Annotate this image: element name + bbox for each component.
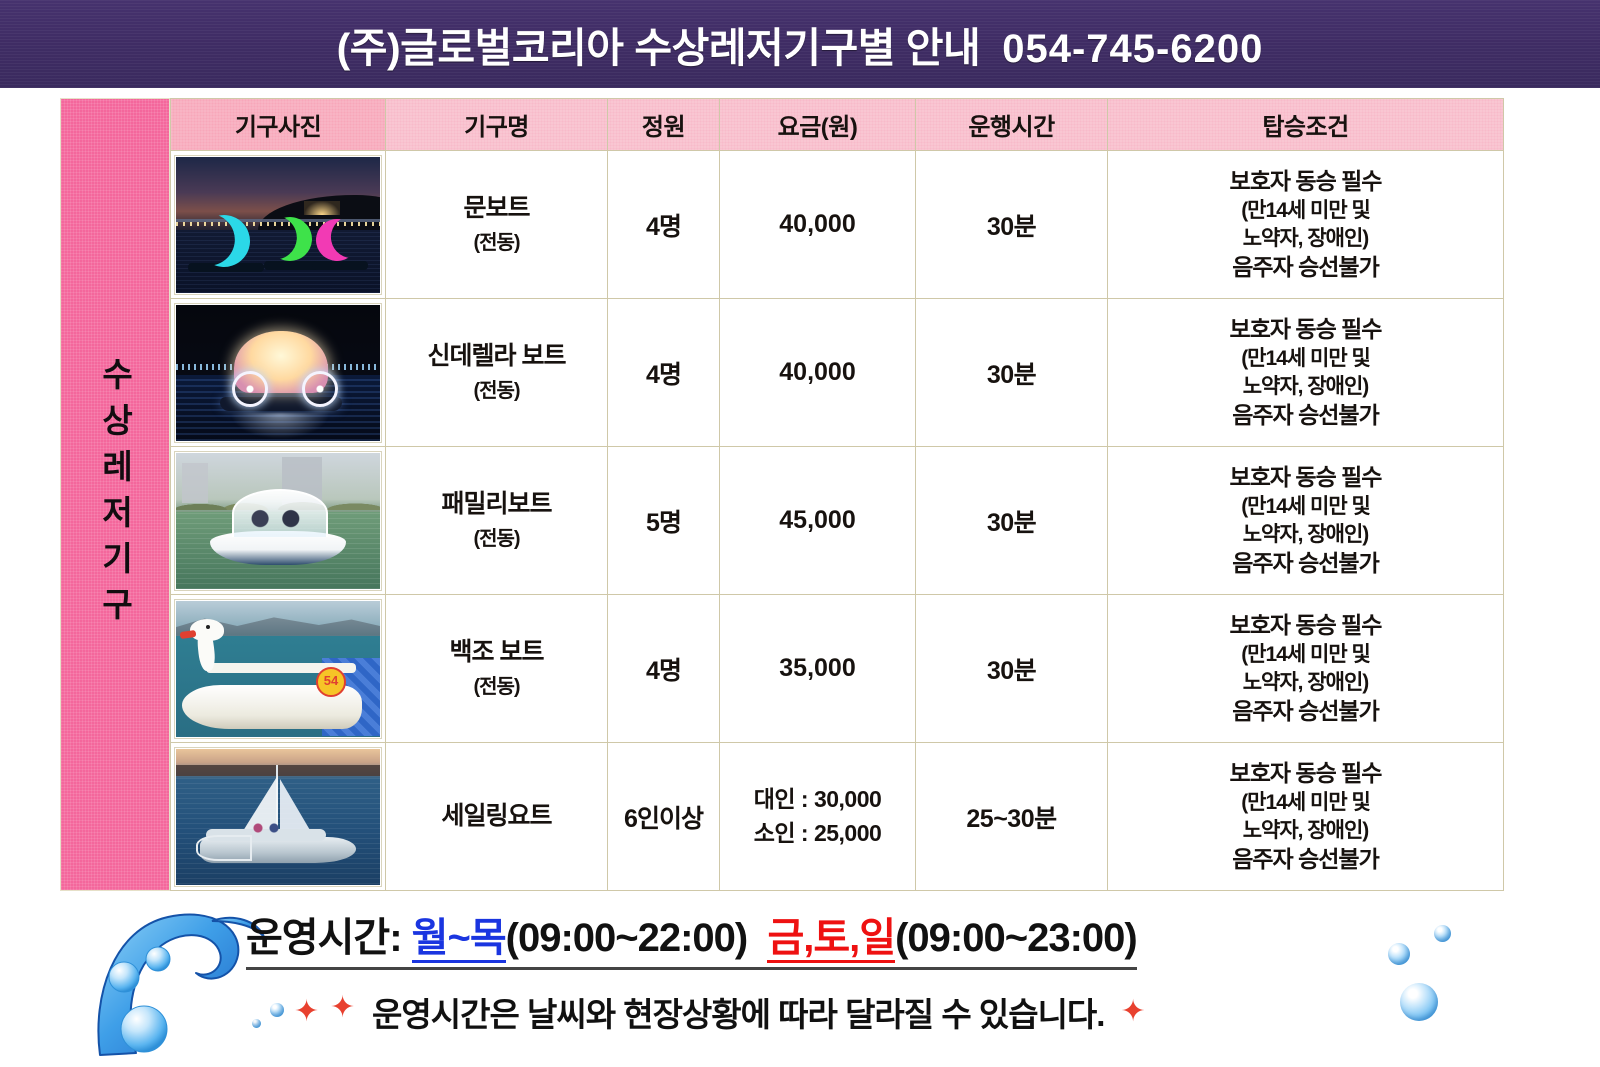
table-row: 세일링요트 6인이상 대인 : 30,000 소인 : 25,000 25~30… [171, 743, 1504, 891]
equipment-name-sub: (전동) [387, 226, 606, 255]
footer-text-block: 운영시간: 월~목(09:00~22:00) 금,토,일(09:00~23:00… [246, 905, 1376, 1036]
condition-line: (만14세 미만 및 [1109, 641, 1502, 669]
column-header-photo: 기구사진 [171, 99, 386, 151]
equipment-name-sub: (전동) [387, 670, 606, 699]
table-header-row: 기구사진 기구명 정원 요금(원) 운행시간 탑승조건 [171, 99, 1504, 151]
duration-value: 30분 [917, 207, 1106, 243]
condition-cell: 보호자 동승 필수 (만14세 미만 및 노약자, 장애인) 음주자 승선불가 [1108, 447, 1504, 595]
table-row: 문보트 (전동) 4명 40,000 30분 보호자 동승 필수 [171, 151, 1504, 299]
capacity-value: 6인이상 [609, 799, 718, 835]
condition-line: 보호자 동승 필수 [1109, 314, 1502, 345]
condition-text: 보호자 동승 필수 (만14세 미만 및 노약자, 장애인) 음주자 승선불가 [1109, 758, 1502, 875]
footer: 운영시간: 월~목(09:00~22:00) 금,토,일(09:00~23:00… [0, 891, 1600, 1067]
condition-text: 보호자 동승 필수 (만14세 미만 및 노약자, 장애인) 음주자 승선불가 [1109, 462, 1502, 579]
condition-line: (만14세 미만 및 [1109, 345, 1502, 373]
weekday-hours: (09:00~22:00) [506, 916, 748, 960]
column-header-capacity: 정원 [608, 99, 720, 151]
equipment-name-cell: 세일링요트 [386, 743, 608, 891]
condition-line: 음주자 승선불가 [1109, 548, 1502, 579]
capacity-value: 4명 [609, 207, 718, 243]
duration-cell: 30분 [916, 595, 1108, 743]
fee-value-child: 소인 : 25,000 [721, 817, 914, 850]
equipment-name: 문보트 [387, 194, 606, 223]
capacity-value: 5명 [609, 503, 718, 539]
carriage-wheel [302, 371, 338, 407]
duration-value: 30분 [917, 503, 1106, 539]
bubble-icon [146, 947, 170, 971]
duration-cell: 30분 [916, 447, 1108, 595]
swan-beak [180, 629, 197, 638]
swan-eye [206, 625, 210, 629]
fee-value: 40,000 [721, 210, 914, 239]
equipment-table: 기구사진 기구명 정원 요금(원) 운행시간 탑승조건 [170, 98, 1504, 891]
weekend-hours: (09:00~23:00) [895, 916, 1137, 960]
weekend-days: 금,토,일 [767, 916, 895, 963]
capacity-cell: 4명 [608, 595, 720, 743]
condition-text: 보호자 동승 필수 (만14세 미만 및 노약자, 장애인) 음주자 승선불가 [1109, 610, 1502, 727]
sailing-yacht-photo [175, 748, 381, 886]
column-header-condition: 탑승조건 [1108, 99, 1504, 151]
condition-line: 노약자, 장애인) [1109, 225, 1502, 253]
bubble-icon [1434, 925, 1451, 942]
condition-line: 노약자, 장애인) [1109, 817, 1502, 845]
swan-boat-photo: 54 [175, 600, 381, 738]
condition-line: 보호자 동승 필수 [1109, 166, 1502, 197]
family-boat-photo [175, 452, 381, 590]
page-title: (주)글로벌코리아 수상레저기구별 안내054-745-6200 [337, 14, 1264, 74]
fee-cell: 35,000 [720, 595, 916, 743]
table-row: 패밀리보트 (전동) 5명 45,000 30분 보호자 동승 필수 [171, 447, 1504, 595]
operating-hours-line: 운영시간: 월~목(09:00~22:00) 금,토,일(09:00~23:00… [246, 905, 1137, 970]
equipment-photo-cell [171, 447, 386, 595]
capacity-value: 4명 [609, 651, 718, 687]
equipment-board: 수상레저기구 기구사진 기구명 정원 요금(원) 운행시간 탑승조건 [60, 98, 1503, 891]
column-header-fee: 요금(원) [720, 99, 916, 151]
equipment-name-cell: 백조 보트 (전동) [386, 595, 608, 743]
equipment-table-wrapper: 기구사진 기구명 정원 요금(원) 운행시간 탑승조건 [170, 98, 1503, 891]
condition-line: 음주자 승선불가 [1109, 844, 1502, 875]
page-header: (주)글로벌코리아 수상레저기구별 안내054-745-6200 [0, 0, 1600, 88]
condition-cell: 보호자 동승 필수 (만14세 미만 및 노약자, 장애인) 음주자 승선불가 [1108, 299, 1504, 447]
condition-line: 노약자, 장애인) [1109, 521, 1502, 549]
moon-boat-photo [175, 156, 381, 294]
notice-line: ✦ ✦ 운영시간은 날씨와 현장상황에 따라 달라질 수 있습니다. ✦ [246, 988, 1376, 1036]
fee-cell: 45,000 [720, 447, 916, 595]
duration-value: 30분 [917, 651, 1106, 687]
bubble-icon [252, 1019, 261, 1028]
pavilion-glow [304, 201, 340, 215]
capacity-cell: 4명 [608, 299, 720, 447]
condition-text: 보호자 동승 필수 (만14세 미만 및 노약자, 장애인) 음주자 승선불가 [1109, 314, 1502, 431]
category-sidebar: 수상레저기구 [60, 98, 170, 891]
duration-cell: 30분 [916, 151, 1108, 299]
fee-cell: 대인 : 30,000 소인 : 25,000 [720, 743, 916, 891]
shoreline [176, 765, 380, 776]
equipment-name-cell: 신데렐라 보트 (전동) [386, 299, 608, 447]
condition-line: 노약자, 장애인) [1109, 669, 1502, 697]
phone-number: 054-745-6200 [1002, 27, 1263, 71]
notice-text: 운영시간은 날씨와 현장상황에 따라 달라질 수 있습니다. [372, 988, 1104, 1036]
star-icon: ✦ [330, 993, 354, 1023]
bubble-icon [121, 1006, 167, 1052]
fee-cell: 40,000 [720, 151, 916, 299]
equipment-name-sub: (전동) [387, 374, 606, 403]
condition-line: 보호자 동승 필수 [1109, 462, 1502, 493]
equipment-photo-cell [171, 151, 386, 299]
column-header-name: 기구명 [386, 99, 608, 151]
condition-line: 보호자 동승 필수 [1109, 758, 1502, 789]
duration-value: 30분 [917, 355, 1106, 391]
company-title: (주)글로벌코리아 수상레저기구별 안내 [337, 25, 981, 71]
condition-cell: 보호자 동승 필수 (만14세 미만 및 노약자, 장애인) 음주자 승선불가 [1108, 595, 1504, 743]
equipment-photo-cell [171, 299, 386, 447]
fee-cell: 40,000 [720, 299, 916, 447]
condition-line: (만14세 미만 및 [1109, 493, 1502, 521]
condition-line: 보호자 동승 필수 [1109, 610, 1502, 641]
passengers [246, 509, 310, 533]
condition-line: 음주자 승선불가 [1109, 400, 1502, 431]
condition-line: 음주자 승선불가 [1109, 696, 1502, 727]
condition-cell: 보호자 동승 필수 (만14세 미만 및 노약자, 장애인) 음주자 승선불가 [1108, 151, 1504, 299]
fee-value: 45,000 [721, 506, 914, 535]
equipment-name-cell: 문보트 (전동) [386, 151, 608, 299]
equipment-photo-cell [171, 743, 386, 891]
equipment-name: 패밀리보트 [387, 490, 606, 519]
condition-line: 음주자 승선불가 [1109, 252, 1502, 283]
boat-number-badge: 54 [316, 667, 346, 697]
capacity-cell: 4명 [608, 151, 720, 299]
equipment-name-cell: 패밀리보트 (전동) [386, 447, 608, 595]
condition-line: (만14세 미만 및 [1109, 789, 1502, 817]
condition-cell: 보호자 동승 필수 (만14세 미만 및 노약자, 장애인) 음주자 승선불가 [1108, 743, 1504, 891]
equipment-name: 백조 보트 [387, 638, 606, 667]
boat-hull [312, 261, 368, 270]
passengers [250, 823, 290, 833]
duration-cell: 25~30분 [916, 743, 1108, 891]
bubble-icon [1400, 983, 1438, 1021]
duration-value: 25~30분 [917, 799, 1106, 835]
equipment-name: 세일링요트 [387, 802, 606, 831]
cinderella-boat-photo [175, 304, 381, 442]
table-header: 기구사진 기구명 정원 요금(원) 운행시간 탑승조건 [171, 99, 1504, 151]
table-row: 54 백조 보트 (전동) 4명 35,000 30분 [171, 595, 1504, 743]
hours-label: 운영시간: [246, 916, 402, 960]
condition-text: 보호자 동승 필수 (만14세 미만 및 노약자, 장애인) 음주자 승선불가 [1109, 166, 1502, 283]
swan-head [190, 619, 224, 641]
duration-cell: 30분 [916, 299, 1108, 447]
equipment-photo-cell: 54 [171, 595, 386, 743]
equipment-name-sub: (전동) [387, 522, 606, 551]
bow-trampoline [196, 835, 252, 861]
notice-decorations: ✦ ✦ [246, 995, 372, 1029]
fee-value-adult: 대인 : 30,000 [721, 783, 914, 816]
condition-line: (만14세 미만 및 [1109, 197, 1502, 225]
equipment-name: 신데렐라 보트 [387, 342, 606, 371]
bubble-icon [1388, 943, 1410, 965]
weekday-days: 월~목 [412, 916, 506, 963]
capacity-cell: 6인이상 [608, 743, 720, 891]
carriage-wheel [232, 371, 268, 407]
category-label: 수상레저기구 [99, 357, 132, 633]
table-row: 신데렐라 보트 (전동) 4명 40,000 30분 보호자 동승 필수 [171, 299, 1504, 447]
column-header-duration: 운행시간 [916, 99, 1108, 151]
star-icon: ✦ [294, 997, 318, 1027]
fee-value: 40,000 [721, 358, 914, 387]
table-body: 문보트 (전동) 4명 40,000 30분 보호자 동승 필수 [171, 151, 1504, 891]
bubble-icon [270, 1003, 284, 1017]
fee-value: 35,000 [721, 654, 914, 683]
light-reflection [230, 413, 330, 439]
bubble-icon [109, 962, 139, 992]
star-icon: ✦ [1120, 997, 1144, 1027]
capacity-cell: 5명 [608, 447, 720, 595]
condition-line: 노약자, 장애인) [1109, 373, 1502, 401]
capacity-value: 4명 [609, 355, 718, 391]
